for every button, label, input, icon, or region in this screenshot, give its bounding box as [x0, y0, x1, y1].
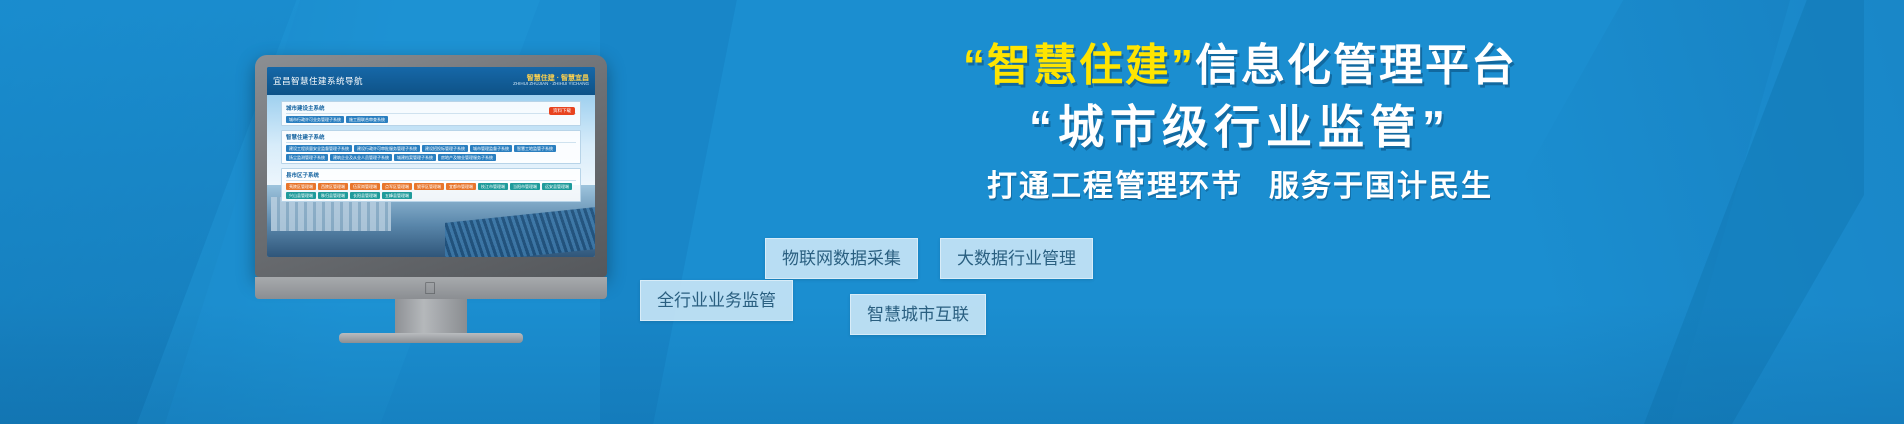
- download-button[interactable]: 资料下载: [549, 107, 575, 115]
- screen-subsystem-link[interactable]: 猇亭区管理端: [414, 183, 444, 190]
- screen-subsystem-link[interactable]: 枝江市管理端: [478, 183, 508, 190]
- screen-subsystem-link[interactable]: 扬尘监测管理子系统: [286, 154, 328, 161]
- subheadline: 打通工程管理环节服务于国计民生: [620, 172, 1860, 202]
- screen-subsystem-link[interactable]: 兴山县管理端: [286, 192, 316, 199]
- imac-mockup: 宜昌智慧住建系统导航 智慧住建 · 智慧宜昌 ZHIHUI ZHUJIAN · …: [255, 55, 607, 305]
- feature-tag-smartcity[interactable]: 智慧城市互联: [850, 294, 986, 335]
- screen-subsystem-link[interactable]: 夷陵区管理端: [286, 183, 316, 190]
- feature-tag-supervision[interactable]: 全行业业务监管: [640, 280, 793, 321]
- screen-subsystem-link[interactable]: 伍家岗管理端: [350, 183, 380, 190]
- feature-tag-iot[interactable]: 物联网数据采集: [765, 238, 918, 279]
- screen-subsystem-link[interactable]: 西陵区管理端: [318, 183, 348, 190]
- screen-section-card: 智慧住建子系统建设工程质量安全监督管理子系统建设行政许可审批服务管理子系统建设招…: [281, 130, 581, 164]
- screen-section-items: 建设工程质量安全监督管理子系统建设行政许可审批服务管理子系统建设招投标管理子系统…: [286, 145, 576, 161]
- screen-subsystem-link[interactable]: 点军区管理端: [382, 183, 412, 190]
- monitor-screen: 宜昌智慧住建系统导航 智慧住建 · 智慧宜昌 ZHIHUI ZHUJIAN · …: [267, 67, 595, 257]
- screen-subsystem-link[interactable]: 施工图联合审查系统: [346, 116, 388, 123]
- screen-subsystem-link[interactable]: 远安县管理端: [542, 183, 572, 190]
- screen-subsystem-link[interactable]: 秭归县管理端: [318, 192, 348, 199]
- screen-section-heading: 县市区子系统: [286, 171, 576, 181]
- screen-subsystem-link[interactable]: 宜都市管理端: [446, 183, 476, 190]
- screen-subsystem-link[interactable]: 建筑企业及从业人员管理子系统: [330, 154, 392, 161]
- screen-header: 宜昌智慧住建系统导航 智慧住建 · 智慧宜昌 ZHIHUI ZHUJIAN · …: [267, 67, 595, 95]
- screen-section-heading: 城市建设主系统: [286, 104, 576, 114]
- headline-rest: 信息化管理平台: [1195, 41, 1517, 90]
- screen-section-items: 城市行政许可业务管理子系统施工图联合审查系统: [286, 116, 576, 123]
- banner-copy: “智慧住建”信息化管理平台 “城市级行业监管” 打通工程管理环节服务于国计民生 …: [620, 0, 1904, 424]
- screen-section-card: 城市建设主系统城市行政许可业务管理子系统施工图联合审查系统: [281, 101, 581, 126]
- headline-quote-close: ”: [1171, 41, 1195, 90]
- screen-subsystem-link[interactable]: 城市管理监督子系统: [470, 145, 512, 152]
- screen-navigation-panel: 资料下载 城市建设主系统城市行政许可业务管理子系统施工图联合审查系统智慧住建子系…: [281, 101, 581, 206]
- monitor-stand-neck: [395, 299, 467, 335]
- subheadline-right: 服务于国计民生: [1269, 170, 1493, 203]
- screen-subsystem-link[interactable]: 五峰县管理端: [382, 192, 412, 199]
- subheadline-left: 打通工程管理环节: [987, 170, 1243, 203]
- screen-body: 资料下载 城市建设主系统城市行政许可业务管理子系统施工图联合审查系统智慧住建子系…: [267, 95, 595, 257]
- headline-quote-open: “: [963, 41, 987, 90]
- screen-subsystem-link[interactable]: 城建档案管理子系统: [394, 154, 436, 161]
- screen-subsystem-link[interactable]: 房地产及物业管理服务子系统: [438, 154, 496, 161]
- screen-subsystem-link[interactable]: 智慧工地监管子系统: [514, 145, 556, 152]
- screen-brand-logo: 智慧住建 · 智慧宜昌 ZHIHUI ZHUJIAN · ZHIHUI YICH…: [513, 75, 589, 87]
- screen-title: 宜昌智慧住建系统导航: [273, 75, 363, 87]
- screen-subsystem-link[interactable]: 长阳县管理端: [350, 192, 380, 199]
- screen-subsystem-link[interactable]: 建设招投标管理子系统: [422, 145, 468, 152]
- feature-tag-group: 物联网数据采集 大数据行业管理 全行业业务监管 智慧城市互联: [620, 228, 1860, 348]
- monitor-stand-foot: [339, 333, 523, 343]
- promo-banner: 宜昌智慧住建系统导航 智慧住建 · 智慧宜昌 ZHIHUI ZHUJIAN · …: [0, 0, 1904, 424]
- headline-secondary: “城市级行业监管”: [620, 104, 1860, 150]
- screen-section-items: 夷陵区管理端西陵区管理端伍家岗管理端点军区管理端猇亭区管理端宜都市管理端枝江市管…: [286, 183, 576, 199]
- screen-subsystem-link[interactable]: 当阳市管理端: [510, 183, 540, 190]
- apple-logo-icon: : [421, 281, 439, 297]
- feature-tag-bigdata[interactable]: 大数据行业管理: [940, 238, 1093, 279]
- screen-section-heading: 智慧住建子系统: [286, 133, 576, 143]
- screen-subsystem-link[interactable]: 建设工程质量安全监督管理子系统: [286, 145, 352, 152]
- brand-name-en: ZHIHUI ZHUJIAN · ZHIHUI YICHANG: [513, 82, 589, 87]
- headline-primary: “智慧住建”信息化管理平台: [620, 44, 1860, 88]
- screen-subsystem-link[interactable]: 城市行政许可业务管理子系统: [286, 116, 344, 123]
- screen-section-card: 县市区子系统夷陵区管理端西陵区管理端伍家岗管理端点军区管理端猇亭区管理端宜都市管…: [281, 168, 581, 202]
- screen-subsystem-link[interactable]: 建设行政许可审批服务管理子系统: [354, 145, 420, 152]
- headline-highlight: 智慧住建: [987, 41, 1171, 90]
